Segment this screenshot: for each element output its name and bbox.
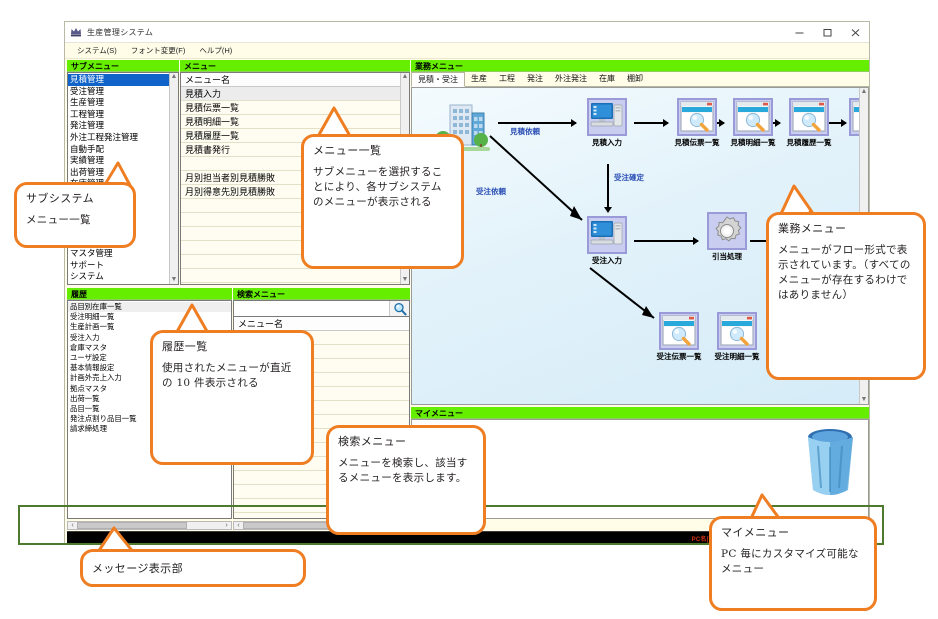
submenu-scrollbar[interactable]: ▲▼: [169, 73, 178, 284]
arrow-quote-request: [498, 122, 576, 124]
edge-label-order-confirm: 受注確定: [614, 172, 644, 183]
flow-node-order-detail-list[interactable]: 受注明細一覧: [708, 312, 766, 362]
window-title: 生産管理システム: [87, 27, 153, 38]
submenu-item[interactable]: 外注工程発注管理: [68, 132, 178, 144]
submenu-item[interactable]: マスタ管理: [68, 248, 178, 260]
pc-monitor-icon: [587, 216, 627, 254]
menu-bar: システム(S) フォント変更(F) ヘルプ(H): [65, 43, 869, 59]
pc-monitor-icon: [587, 98, 627, 136]
submenu-item[interactable]: サポート: [68, 260, 178, 272]
callout-body: PC 毎にカスタマイズ可能なメニュー: [721, 547, 865, 577]
recycle-bin-icon[interactable]: [802, 426, 858, 505]
submenu-panel-header: サブメニュー: [67, 60, 179, 72]
business-tab[interactable]: 発注: [521, 72, 549, 86]
callout-body: サブメニューを選択することにより、各サブシステムのメニューが表示される: [313, 165, 452, 210]
callout-body: メニューがフロー形式で表示されています。（すべてのメニューが存在するわけではあり…: [778, 243, 914, 303]
list-search-icon: [677, 98, 717, 136]
business-menu-header: 業務メニュー: [411, 60, 869, 72]
callout-title: 履歴一覧: [162, 340, 302, 354]
gear-icon: [707, 212, 747, 250]
callout-title: サブシステム: [26, 192, 124, 206]
magnifier-icon[interactable]: [389, 301, 409, 316]
flow-node-allocation[interactable]: 引当処理: [698, 212, 756, 262]
callout-body: 使用されたメニューが直近の 10 件表示される: [162, 361, 302, 391]
menu-item[interactable]: 見積入力: [181, 87, 409, 101]
callout-title: メニュー一覧: [313, 144, 452, 158]
window-controls: [785, 22, 869, 42]
callout-menulist: メニュー一覧 サブメニューを選択することにより、各サブシステムのメニューが表示さ…: [301, 134, 464, 269]
search-column-header: メニュー名: [234, 317, 409, 331]
callout-body: メニューを検索し、該当するメニューを表示します。: [338, 456, 474, 486]
list-search-icon: [789, 98, 829, 136]
menu-column-header: メニュー名: [181, 73, 409, 87]
flow-node-label: 見積入力: [578, 137, 636, 148]
flow-node-order-input[interactable]: 受注入力: [578, 216, 636, 266]
callout-title: 検索メニュー: [338, 435, 474, 449]
flow-node-label: 引当処理: [698, 251, 756, 262]
list-search-icon: [717, 312, 757, 350]
arrow-order-confirm: [607, 164, 609, 208]
business-tab[interactable]: 在庫: [593, 72, 621, 86]
menu-system[interactable]: システム(S): [77, 45, 117, 56]
flow-node-quote-detail-list[interactable]: 見積明細一覧: [724, 98, 782, 148]
business-menu-tabstrip: 見積・受注生産工程発注外注発注在庫棚卸: [411, 72, 869, 87]
flow-node-label: 受注明細一覧: [708, 351, 766, 362]
edge-label-order-request: 受注依頼: [476, 186, 506, 197]
callout-subsystem: サブシステム メニュー一覧: [14, 182, 136, 248]
flow-node-label: 受注入力: [578, 255, 636, 266]
history-panel-header: 履歴: [67, 288, 232, 300]
business-tab[interactable]: 外注発注: [549, 72, 593, 86]
submenu-item[interactable]: システム: [68, 271, 178, 283]
minimize-icon[interactable]: [785, 22, 813, 42]
flow-node-order-slip-list[interactable]: 受注伝票一覧: [650, 312, 708, 362]
flow-node-quote-input[interactable]: 見積入力: [578, 98, 636, 148]
menu-panel-header: メニュー: [180, 60, 410, 72]
flow-node-label: 見積明細一覧: [724, 137, 782, 148]
arrow-order-to-allocate: [634, 240, 698, 242]
callout-history: 履歴一覧 使用されたメニューが直近の 10 件表示される: [150, 330, 314, 465]
flow-node-quote-history-list[interactable]: 見積履歴一覧: [780, 98, 838, 148]
menu-font-change[interactable]: フォント変更(F): [131, 45, 186, 56]
menu-help[interactable]: ヘルプ(H): [199, 45, 232, 56]
submenu-item[interactable]: 生産管理: [68, 97, 178, 109]
callout-title: メッセージ表示部: [92, 562, 294, 576]
submenu-item[interactable]: 工程管理: [68, 109, 178, 121]
callout-title: マイメニュー: [721, 526, 865, 540]
business-tab[interactable]: 工程: [493, 72, 521, 86]
menu-empty-row: [181, 269, 409, 283]
list-search-icon: [733, 98, 773, 136]
arrow-quote-to-list: [634, 122, 668, 124]
flow-node-label: 受注伝票一覧: [650, 351, 708, 362]
submenu-item[interactable]: 見積管理: [68, 74, 178, 86]
my-menu-header: マイメニュー: [411, 407, 869, 419]
submenu-item[interactable]: 自動手配: [68, 144, 178, 156]
flow-node-label: 見積履歴一覧: [780, 137, 838, 148]
menu-item[interactable]: 見積伝票一覧: [181, 101, 409, 115]
submenu-item[interactable]: 受注管理: [68, 86, 178, 98]
callout-title: 業務メニュー: [778, 222, 914, 236]
callout-search: 検索メニュー メニューを検索し、該当するメニューを表示します。: [326, 425, 486, 535]
search-panel-header: 検索メニュー: [233, 288, 410, 300]
flow-node-quote-slip-list[interactable]: 見積伝票一覧: [668, 98, 726, 148]
flow-node-label: 見積伝票一覧: [668, 137, 726, 148]
close-icon[interactable]: [841, 22, 869, 42]
search-input[interactable]: [234, 301, 389, 316]
callout-mymenu: マイメニュー PC 毎にカスタマイズ可能なメニュー: [709, 516, 877, 611]
crown-icon: [70, 26, 82, 38]
title-bar: 生産管理システム: [65, 22, 869, 43]
search-bar: [233, 300, 410, 316]
menu-item[interactable]: 見積明細一覧: [181, 115, 409, 129]
business-tab[interactable]: 見積・受注: [411, 72, 465, 87]
submenu-item[interactable]: 発注管理: [68, 120, 178, 132]
business-tab[interactable]: 生産: [465, 72, 493, 86]
list-search-icon: [659, 312, 699, 350]
business-tab[interactable]: 棚卸: [621, 72, 649, 86]
callout-body: メニュー一覧: [26, 213, 124, 228]
callout-business: 業務メニュー メニューがフロー形式で表示されています。（すべてのメニューが存在す…: [766, 212, 926, 380]
maximize-icon[interactable]: [813, 22, 841, 42]
callout-message: メッセージ表示部: [80, 549, 306, 587]
